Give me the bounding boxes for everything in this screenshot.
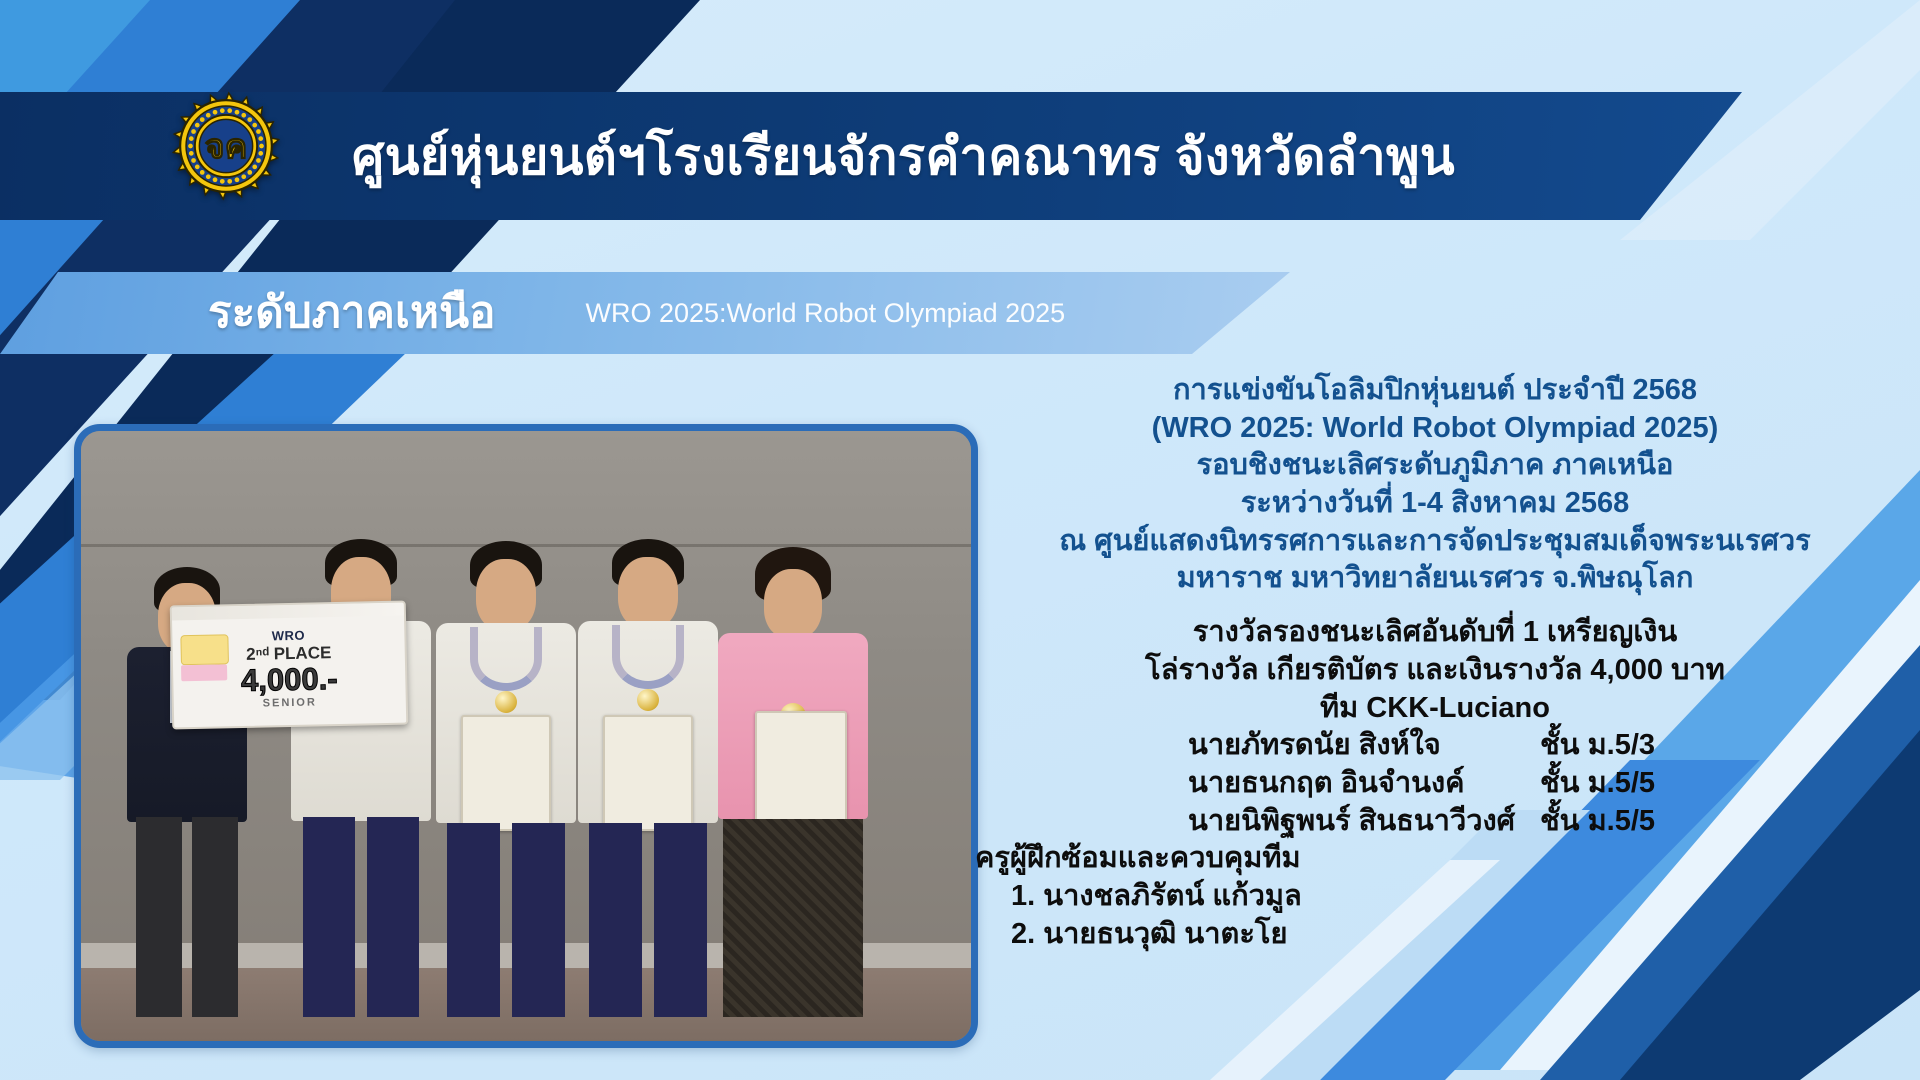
member-class: ชั้น ม.5/5 [1540, 765, 1760, 803]
certificate-2 [603, 715, 693, 831]
event-name-english: WRO 2025:World Robot Olympiad 2025 [585, 300, 1065, 327]
photo-person-student-2 [431, 539, 581, 1017]
info-venue-line-1: ณ ศูนย์แสดงนิทรรศการและการจัดประชุมสมเด็… [975, 523, 1895, 561]
award-cheque: WRO 2ⁿᵈ PLACE 4,000.- SENIOR [170, 601, 409, 730]
info-round: รอบชิงชนะเลิศระดับภูมิภาค ภาคเหนือ [975, 447, 1895, 485]
coach-item: 1. นางชลภิรัตน์ แก้วมูล [975, 878, 1895, 916]
svg-text:จค: จค [205, 128, 248, 166]
poster-canvas: ศูนย์หุ่นยนต์ฯโรงเรียนจักรคำคณาทร จังหวั… [0, 0, 1920, 1080]
region-band: ระดับภาคเหนือ WRO 2025:World Robot Olymp… [0, 272, 1290, 354]
school-emblem-icon: จค [152, 72, 300, 220]
member-class: ชั้น ม.5/5 [1540, 803, 1760, 841]
spacer [975, 598, 1895, 614]
info-panel: การแข่งขันโอลิมปิกหุ่นยนต์ ประจำปี 2568 … [975, 372, 1895, 953]
cheque-label-pink [181, 664, 227, 681]
info-title-th: การแข่งขันโอลิมปิกหุ่นยนต์ ประจำปี 2568 [975, 372, 1895, 410]
region-label: ระดับภาคเหนือ [208, 291, 495, 335]
member-name: นายนิพิฐพนร์ สินธนาวีวงศ์ [1110, 803, 1540, 841]
cheque-amount: 4,000.- [241, 662, 338, 695]
member-row: นายธนกฤต อินจำนงค์ ชั้น ม.5/5 [975, 765, 1895, 803]
member-row: นายนิพิฐพนร์ สินธนาวีวงศ์ ชั้น ม.5/5 [975, 803, 1895, 841]
member-name: นายภัทรดนัย สิงห์ใจ [1110, 727, 1540, 765]
photo-person-teacher-female [713, 547, 873, 1017]
cheque-brand: WRO [272, 627, 306, 643]
info-award-line-1: รางวัลรองชนะเลิศอันดับที่ 1 เหรียญเงิน [975, 614, 1895, 652]
member-name: นายธนกฤต อินจำนงค์ [1110, 765, 1540, 803]
coach-header: ครูผู้ฝึกซ้อมและควบคุมทีม [975, 840, 1895, 878]
coach-item: 2. นายธนวุฒิ นาตะโย [975, 916, 1895, 954]
page-title: ศูนย์หุ่นยนต์ฯโรงเรียนจักรคำคณาทร จังหวั… [352, 131, 1455, 182]
member-row: นายภัทรดนัย สิงห์ใจ ชั้น ม.5/3 [975, 727, 1895, 765]
info-title-en: (WRO 2025: World Robot Olympiad 2025) [975, 410, 1895, 448]
member-class: ชั้น ม.5/3 [1540, 727, 1760, 765]
cheque-top-bar [172, 603, 404, 621]
certificate-3 [755, 711, 847, 827]
info-award-line-2: โล่รางวัล เกียรติบัตร และเงินรางวัล 4,00… [975, 652, 1895, 690]
team-award-photo: WRO 2ⁿᵈ PLACE 4,000.- SENIOR [74, 424, 978, 1048]
cheque-seal-icon [180, 634, 229, 665]
info-team-name: ทีม CKK-Luciano [975, 690, 1895, 728]
cheque-category: SENIOR [263, 696, 317, 709]
info-dates: ระหว่างวันที่ 1-4 สิงหาคม 2568 [975, 485, 1895, 523]
info-venue-line-2: มหาราช มหาวิทยาลัยนเรศวร จ.พิษณุโลก [975, 560, 1895, 598]
photo-person-student-3 [573, 539, 723, 1017]
certificate-1 [461, 715, 551, 831]
